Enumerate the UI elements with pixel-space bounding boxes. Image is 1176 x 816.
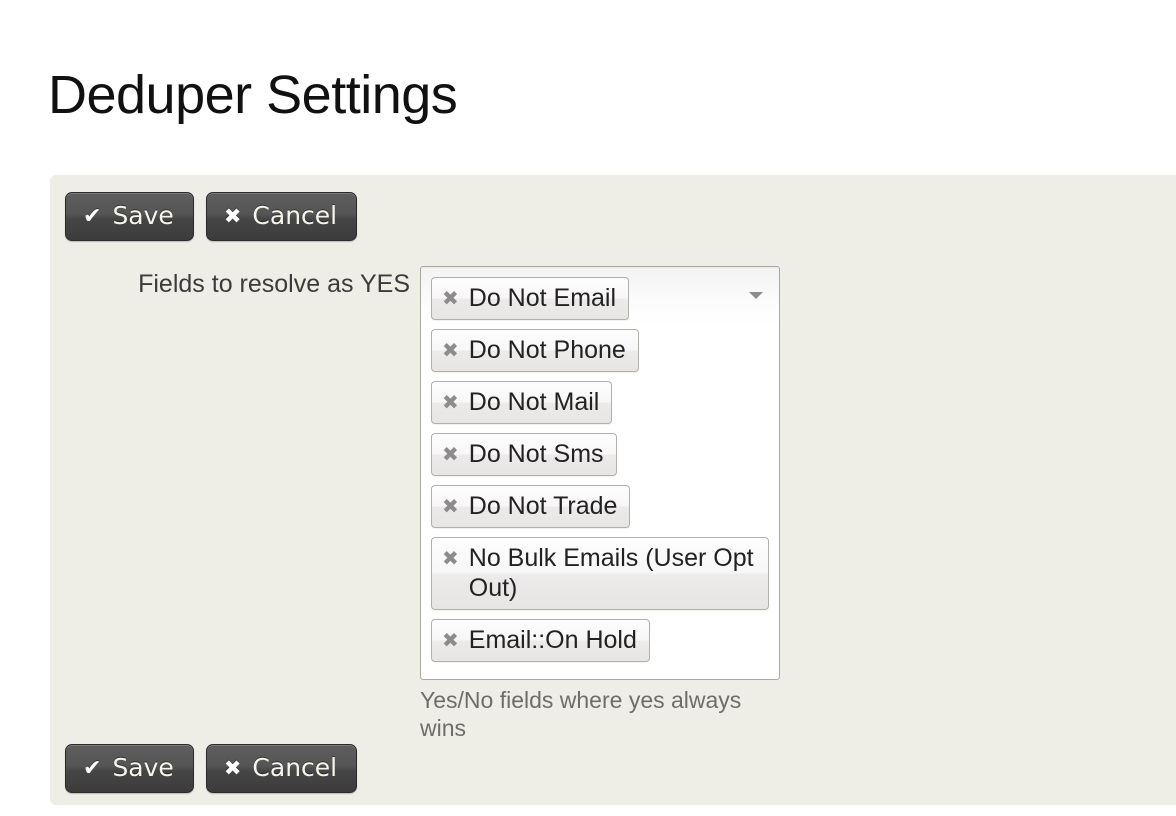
tag-label: Do Not Sms: [469, 439, 604, 469]
save-button-label: Save: [112, 203, 173, 228]
remove-tag-icon[interactable]: ✖: [442, 387, 459, 417]
tag-row: ✖Email::On Hold: [431, 619, 769, 671]
tag-no-bulk-emails[interactable]: ✖No Bulk Emails (User Opt Out): [431, 537, 769, 610]
check-icon: ✔: [83, 758, 101, 780]
save-button-top[interactable]: ✔ Save: [65, 192, 194, 241]
cancel-button-label: Cancel: [252, 203, 337, 228]
remove-tag-icon[interactable]: ✖: [442, 543, 459, 573]
toolbar-top: ✔ Save ✖ Cancel: [65, 192, 357, 241]
tag-row: ✖No Bulk Emails (User Opt Out): [431, 537, 769, 619]
tag-email-on-hold[interactable]: ✖Email::On Hold: [431, 619, 650, 662]
tag-row: ✖Do Not Phone: [431, 329, 769, 381]
tag-label: No Bulk Emails (User Opt Out): [469, 543, 756, 603]
deduper-settings-form-panel: ✔ Save ✖ Cancel Fields to resolve as YES…: [50, 175, 1176, 805]
remove-tag-icon[interactable]: ✖: [442, 439, 459, 469]
cancel-button-bottom[interactable]: ✖ Cancel: [206, 744, 357, 793]
fields-to-resolve-as-yes-control: ✖Do Not Email ✖Do Not Phone ✖Do Not Mail…: [420, 266, 780, 742]
fields-to-resolve-as-yes-label: Fields to resolve as YES: [90, 270, 410, 299]
tag-row: ✖Do Not Trade: [431, 485, 769, 537]
remove-tag-icon[interactable]: ✖: [442, 491, 459, 521]
tag-label: Do Not Mail: [469, 387, 600, 417]
tag-do-not-email[interactable]: ✖Do Not Email: [431, 277, 629, 320]
cancel-button-top[interactable]: ✖ Cancel: [206, 192, 357, 241]
chevron-down-icon[interactable]: [749, 292, 763, 299]
remove-tag-icon[interactable]: ✖: [442, 283, 459, 313]
remove-tag-icon[interactable]: ✖: [442, 335, 459, 365]
cancel-button-label: Cancel: [252, 755, 337, 780]
tag-label: Do Not Phone: [469, 335, 626, 365]
selected-tags-list: ✖Do Not Email ✖Do Not Phone ✖Do Not Mail…: [431, 277, 769, 671]
tag-do-not-phone[interactable]: ✖Do Not Phone: [431, 329, 639, 372]
tag-label: Do Not Trade: [469, 491, 618, 521]
save-button-bottom[interactable]: ✔ Save: [65, 744, 194, 793]
check-icon: ✔: [83, 206, 101, 228]
field-help-text: Yes/No fields where yes always wins: [420, 686, 780, 742]
tag-do-not-sms[interactable]: ✖Do Not Sms: [431, 433, 617, 476]
tag-label: Do Not Email: [469, 283, 616, 313]
tag-row: ✖Do Not Mail: [431, 381, 769, 433]
tag-do-not-trade[interactable]: ✖Do Not Trade: [431, 485, 630, 528]
tag-row: ✖Do Not Email: [431, 277, 769, 329]
remove-tag-icon[interactable]: ✖: [442, 625, 459, 655]
tag-do-not-mail[interactable]: ✖Do Not Mail: [431, 381, 612, 424]
tag-row: ✖Do Not Sms: [431, 433, 769, 485]
page-title: Deduper Settings: [48, 64, 457, 126]
close-icon: ✖: [224, 206, 242, 227]
save-button-label: Save: [112, 755, 173, 780]
toolbar-bottom: ✔ Save ✖ Cancel: [65, 744, 357, 793]
multiselect-input[interactable]: ✖Do Not Email ✖Do Not Phone ✖Do Not Mail…: [420, 266, 780, 680]
tag-label: Email::On Hold: [469, 625, 637, 655]
close-icon: ✖: [224, 758, 242, 779]
